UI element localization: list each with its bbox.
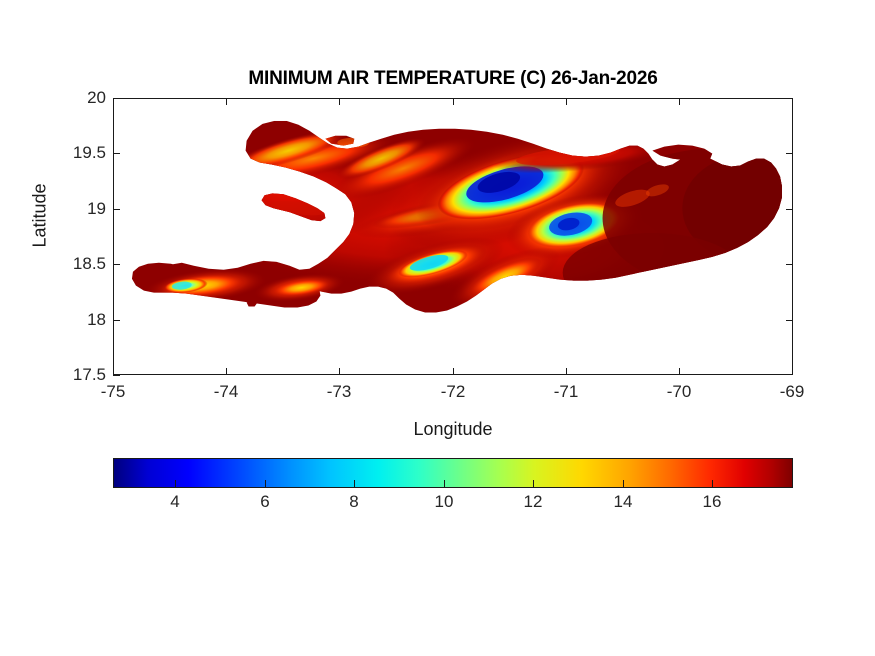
ytick-mark <box>113 320 120 321</box>
xtick-mark <box>792 368 793 375</box>
ytick-label: 18.5 <box>48 254 106 274</box>
ytick-label: 17.5 <box>48 365 106 385</box>
colorbar-tick <box>175 480 176 487</box>
colorbar-tick <box>712 480 713 487</box>
colorbar-tick <box>444 480 445 487</box>
ytick-label: 20 <box>48 88 106 108</box>
colorbar-gradient <box>113 458 793 488</box>
xtick-mark-top <box>679 98 680 105</box>
xtick-mark <box>566 368 567 375</box>
ytick-label: 18 <box>48 310 106 330</box>
xtick-label: -72 <box>441 382 466 402</box>
figure-canvas: MINIMUM AIR TEMPERATURE (C) 26-Jan-2026 <box>0 0 875 656</box>
ytick-mark <box>113 98 120 99</box>
xtick-label: -71 <box>554 382 579 402</box>
xtick-label: -70 <box>667 382 692 402</box>
colorbar-tick-label: 10 <box>435 492 454 512</box>
xtick-mark-top <box>566 98 567 105</box>
x-axis-label: Longitude <box>113 419 793 440</box>
xtick-mark <box>113 368 114 375</box>
xtick-label: -73 <box>327 382 352 402</box>
xtick-mark-top <box>453 98 454 105</box>
ytick-label: 19.5 <box>48 143 106 163</box>
xtick-mark-top <box>339 98 340 105</box>
colorbar-tick <box>623 480 624 487</box>
ytick-mark-right <box>786 320 793 321</box>
ytick-mark <box>113 153 120 154</box>
ytick-mark-right <box>786 264 793 265</box>
page-title: MINIMUM AIR TEMPERATURE (C) 26-Jan-2026 <box>113 68 793 90</box>
map-axes <box>113 98 793 375</box>
xtick-label: -74 <box>214 382 239 402</box>
xtick-mark-top <box>226 98 227 105</box>
colorbar-tick <box>533 480 534 487</box>
colorbar[interactable] <box>113 458 793 488</box>
xtick-mark <box>226 368 227 375</box>
ytick-mark-right <box>786 153 793 154</box>
xtick-label: -75 <box>101 382 126 402</box>
colorbar-tick-label: 12 <box>524 492 543 512</box>
colorbar-tick-label: 4 <box>170 492 179 512</box>
colorbar-tick-label: 8 <box>349 492 358 512</box>
ytick-mark <box>113 209 120 210</box>
colorbar-tick-label: 16 <box>703 492 722 512</box>
colorbar-tick <box>265 480 266 487</box>
colorbar-tick <box>354 480 355 487</box>
ytick-label: 19 <box>48 199 106 219</box>
ytick-mark <box>113 375 120 376</box>
xtick-mark <box>339 368 340 375</box>
xtick-mark <box>679 368 680 375</box>
xtick-mark <box>453 368 454 375</box>
xtick-label: -69 <box>780 382 805 402</box>
ytick-mark-right <box>786 209 793 210</box>
temperature-heatmap <box>114 99 792 374</box>
ytick-mark <box>113 264 120 265</box>
colorbar-tick-label: 14 <box>614 492 633 512</box>
colorbar-tick-label: 6 <box>260 492 269 512</box>
y-axis-label: Latitude <box>30 146 51 286</box>
